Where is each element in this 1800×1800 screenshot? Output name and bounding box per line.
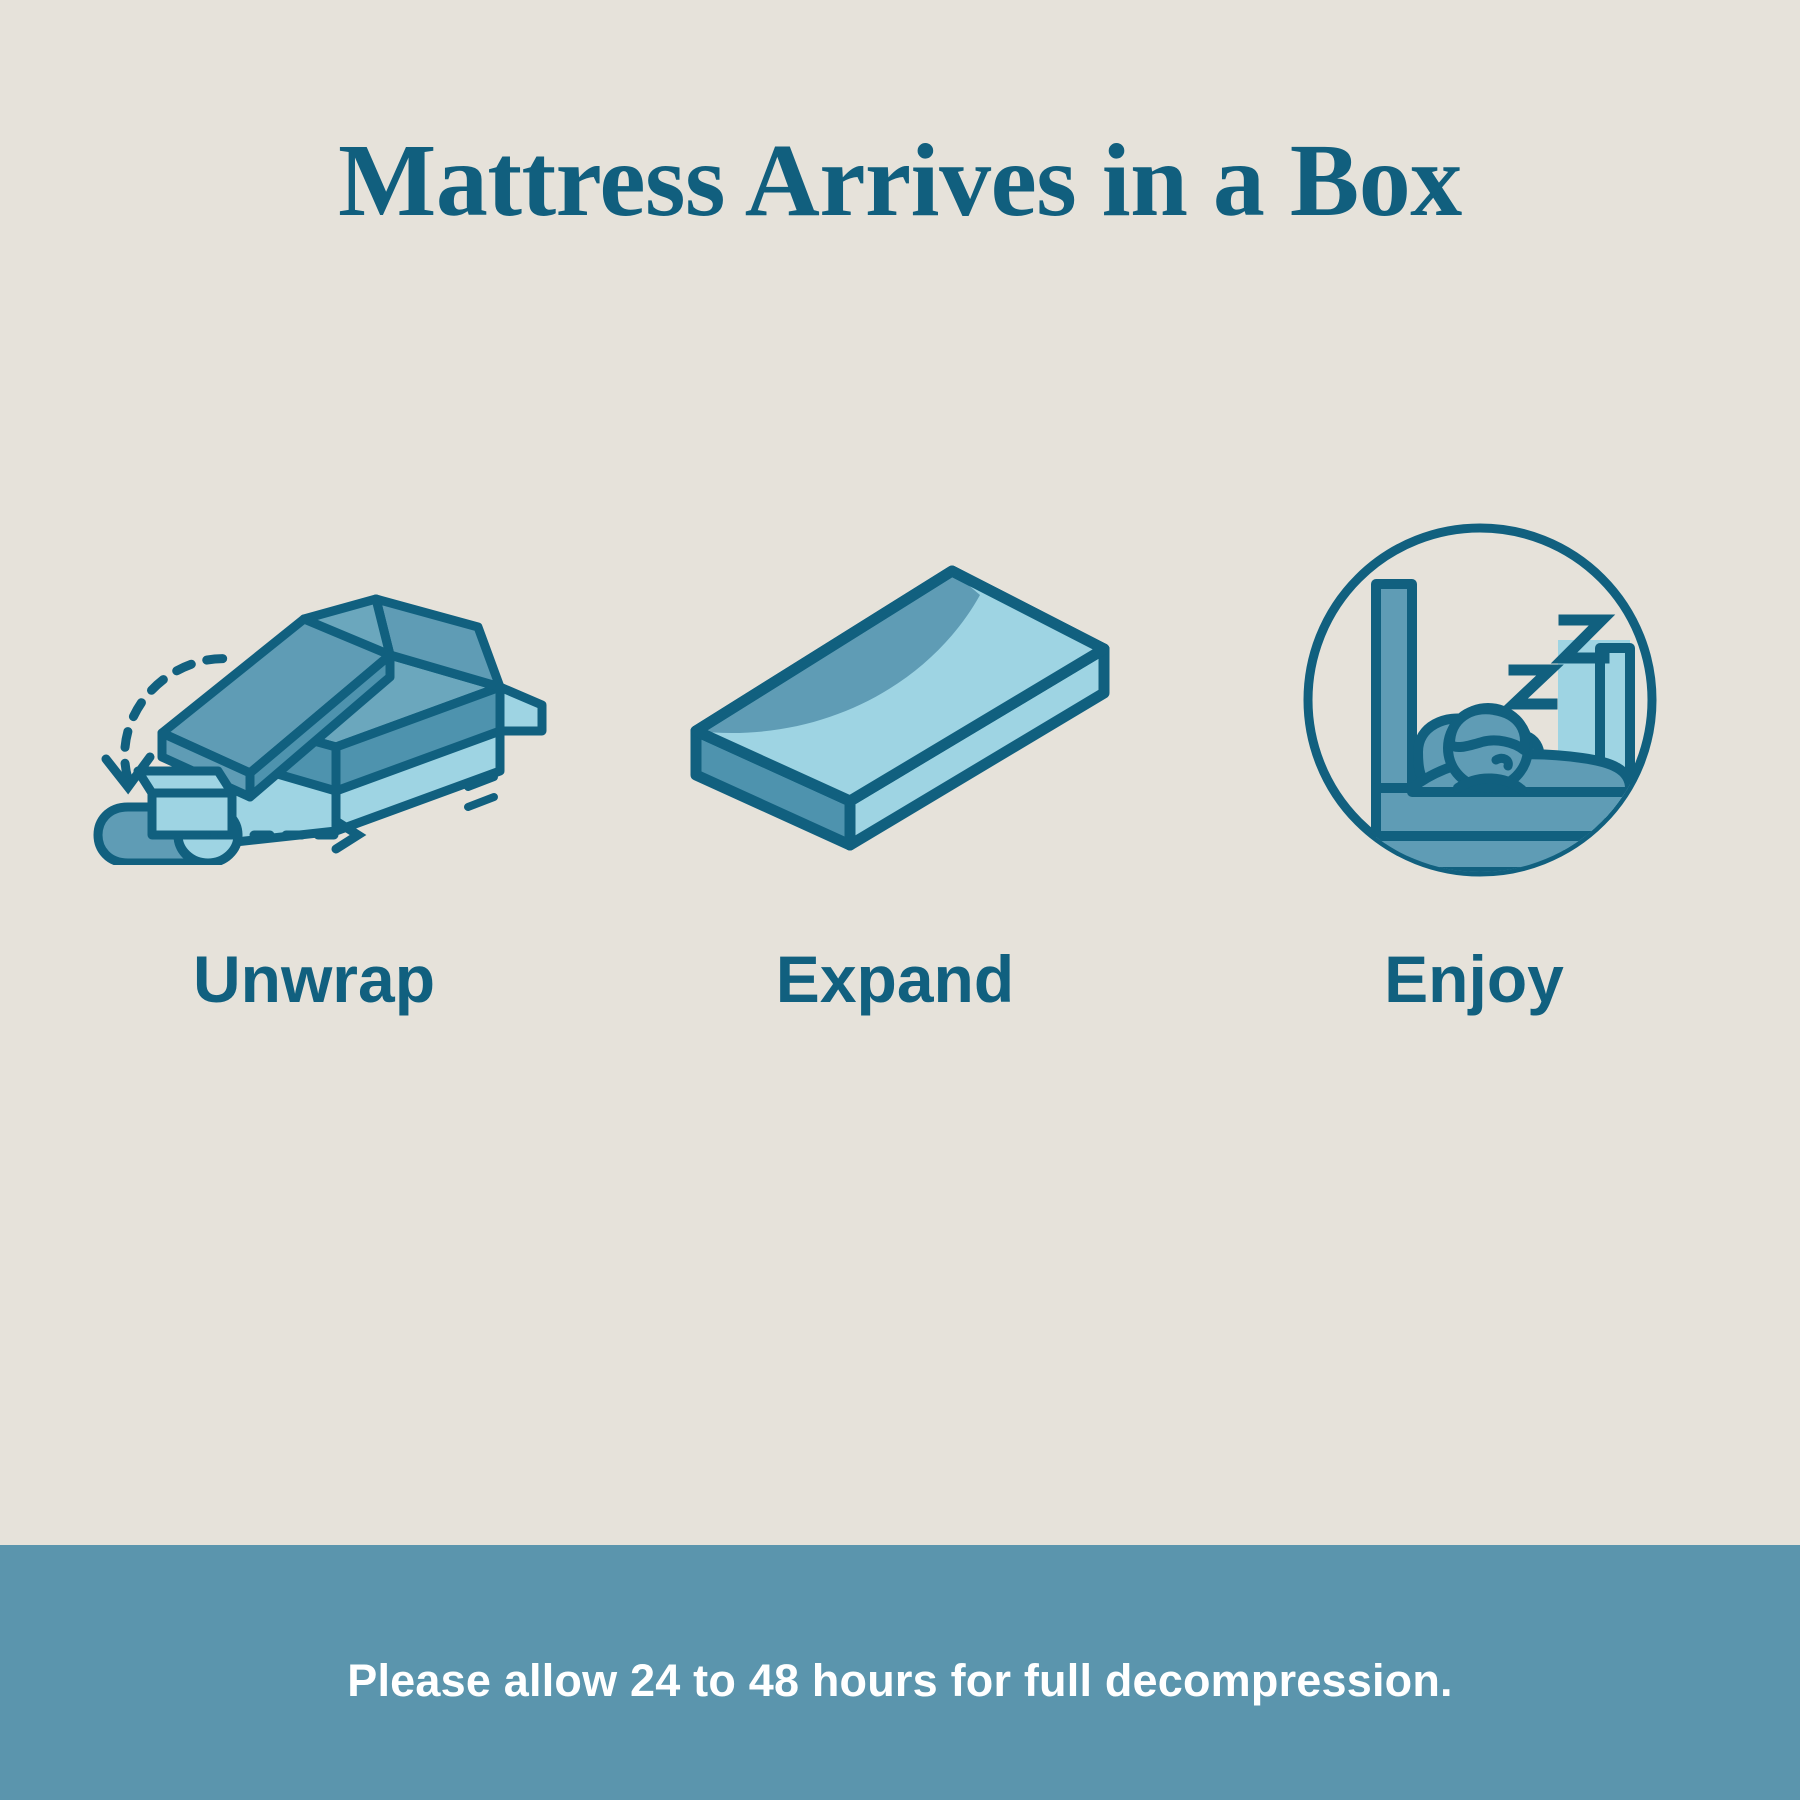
enjoy-illustration — [1200, 500, 1760, 900]
step-unwrap: Unwrap — [40, 500, 600, 1012]
page-title: Mattress Arrives in a Box — [0, 126, 1800, 235]
step-enjoy: Enjoy — [1200, 500, 1760, 1012]
person-sleeping-in-bed-icon — [1300, 520, 1660, 880]
box-with-rolled-mattress-icon — [90, 535, 550, 865]
step-label-enjoy: Enjoy — [1384, 946, 1564, 1012]
step-expand: Expand — [620, 500, 1180, 1012]
decompression-note: Please allow 24 to 48 hours for full dec… — [347, 1655, 1453, 1707]
flat-mattress-icon — [680, 535, 1120, 865]
expand-illustration — [620, 500, 1180, 900]
steps-row: Unwrap — [0, 500, 1800, 1060]
unwrap-illustration — [40, 500, 600, 900]
mattress-in-a-box-infographic: Mattress Arrives in a Box — [0, 0, 1800, 1800]
step-label-unwrap: Unwrap — [193, 946, 435, 1012]
footer-banner: Please allow 24 to 48 hours for full dec… — [0, 1545, 1800, 1800]
step-label-expand: Expand — [776, 946, 1014, 1012]
